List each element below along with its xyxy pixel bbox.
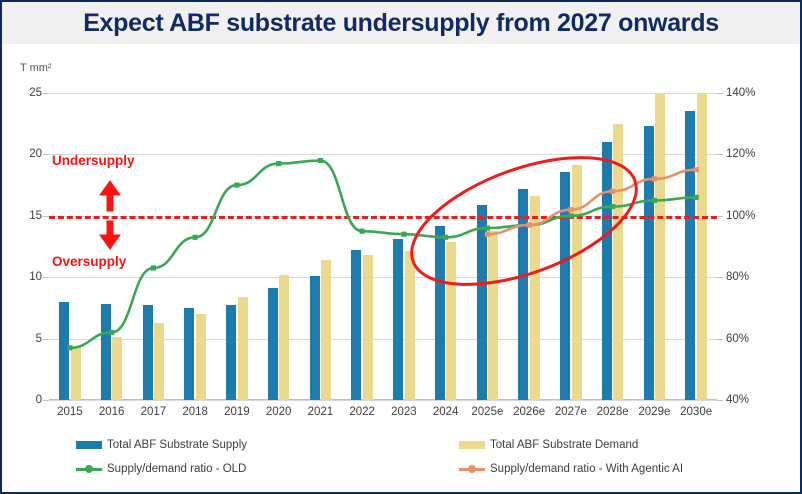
line-marker [360, 229, 365, 234]
line-marker [527, 222, 532, 227]
legend-bar-swatch-icon [459, 441, 485, 449]
x-axis-label: 2020 [266, 406, 292, 418]
y-axis-tickmark-right [717, 277, 723, 278]
y-axis-tickmark-right [717, 216, 723, 217]
y-axis-tickmark-right [717, 400, 723, 401]
y-axis-tickmark-right [717, 154, 723, 155]
y-axis-tick-right: 120% [726, 148, 755, 160]
y-axis-tick-right: 60% [726, 333, 749, 345]
legend-label: Total ABF Substrate Demand [490, 439, 638, 451]
x-axis-label: 2022 [349, 406, 375, 418]
line-marker [318, 158, 323, 163]
legend-label: Supply/demand ratio - With Agentic AI [490, 463, 683, 475]
y-axis-tickmark-left [43, 400, 49, 401]
title-bar: Expect ABF substrate undersupply from 20… [2, 2, 800, 44]
y-axis-tick-right: 140% [726, 87, 755, 99]
line-series-layer [49, 93, 717, 400]
x-axis-label: 2030e [680, 406, 712, 418]
line-marker [401, 232, 406, 237]
x-axis-label: 2019 [224, 406, 250, 418]
chart-area: T mm² 051015202540%60%80%100%120%140% Un… [2, 44, 800, 492]
legend-item[interactable]: Supply/demand ratio - OLD [49, 459, 404, 481]
legend-line-swatch-icon [76, 464, 102, 474]
line-marker [109, 330, 114, 335]
line-marker [652, 176, 657, 181]
y-axis-tick-left: 20 [29, 148, 42, 160]
line-marker [67, 345, 72, 350]
y-axis-tick-left: 10 [29, 271, 42, 283]
x-axis-label: 2017 [141, 406, 167, 418]
x-axis-labels: 2015201620172018201920202021202220232024… [49, 406, 717, 426]
line-marker [568, 207, 573, 212]
line-marker [610, 204, 615, 209]
line-marker [652, 198, 657, 203]
y-axis-tick-right: 80% [726, 271, 749, 283]
line-marker [234, 183, 239, 188]
legend-bar-swatch-icon [76, 441, 102, 449]
y-axis-tickmark-right [717, 93, 723, 94]
line-marker [151, 265, 156, 270]
legend-label: Supply/demand ratio - OLD [107, 463, 246, 475]
y-axis-tick-right: 40% [726, 394, 749, 406]
line-marker [694, 195, 699, 200]
line-marker [193, 235, 198, 240]
x-axis-label: 2016 [99, 406, 125, 418]
chart-legend: Total ABF Substrate SupplyTotal ABF Subs… [49, 434, 759, 480]
x-axis-label: 2015 [57, 406, 83, 418]
x-axis-label: 2029e [638, 406, 670, 418]
x-axis-label: 2023 [391, 406, 417, 418]
legend-item[interactable]: Total ABF Substrate Supply [49, 434, 404, 456]
x-axis-label: 2024 [433, 406, 459, 418]
y-axis-tick-right: 100% [726, 210, 755, 222]
y-axis-unit-label: T mm² [20, 62, 52, 74]
legend-line-swatch-icon [459, 464, 485, 474]
x-axis-label: 2026e [513, 406, 545, 418]
supply-balance-arrow-icon [93, 179, 127, 253]
line-marker [610, 189, 615, 194]
chart-window: Expect ABF substrate undersupply from 20… [0, 0, 802, 494]
x-axis-label: 2025e [471, 406, 503, 418]
x-axis-label: 2027e [555, 406, 587, 418]
plot-region: 051015202540%60%80%100%120%140% Undersup… [49, 93, 717, 400]
y-axis-tickmark-right [717, 339, 723, 340]
legend-label: Total ABF Substrate Supply [107, 439, 247, 451]
y-axis-tick-left: 15 [29, 210, 42, 222]
line-marker [694, 167, 699, 172]
y-axis-tick-left: 5 [36, 333, 42, 345]
line-marker [568, 213, 573, 218]
line-marker [276, 161, 281, 166]
x-axis-label: 2021 [308, 406, 334, 418]
legend-item[interactable]: Total ABF Substrate Demand [404, 434, 759, 456]
gridline [49, 400, 717, 401]
y-axis-tick-left: 0 [36, 394, 42, 406]
line-path [70, 161, 696, 348]
line-marker [443, 235, 448, 240]
undersupply-annotation: Undersupply [52, 153, 135, 168]
line-marker [485, 232, 490, 237]
y-axis-tick-left: 25 [29, 87, 42, 99]
legend-item[interactable]: Supply/demand ratio - With Agentic AI [404, 459, 759, 481]
x-axis-label: 2028e [597, 406, 629, 418]
x-axis-label: 2018 [182, 406, 208, 418]
oversupply-annotation: Oversupply [52, 254, 126, 269]
page-title: Expect ABF substrate undersupply from 20… [83, 9, 719, 38]
line-marker [485, 225, 490, 230]
